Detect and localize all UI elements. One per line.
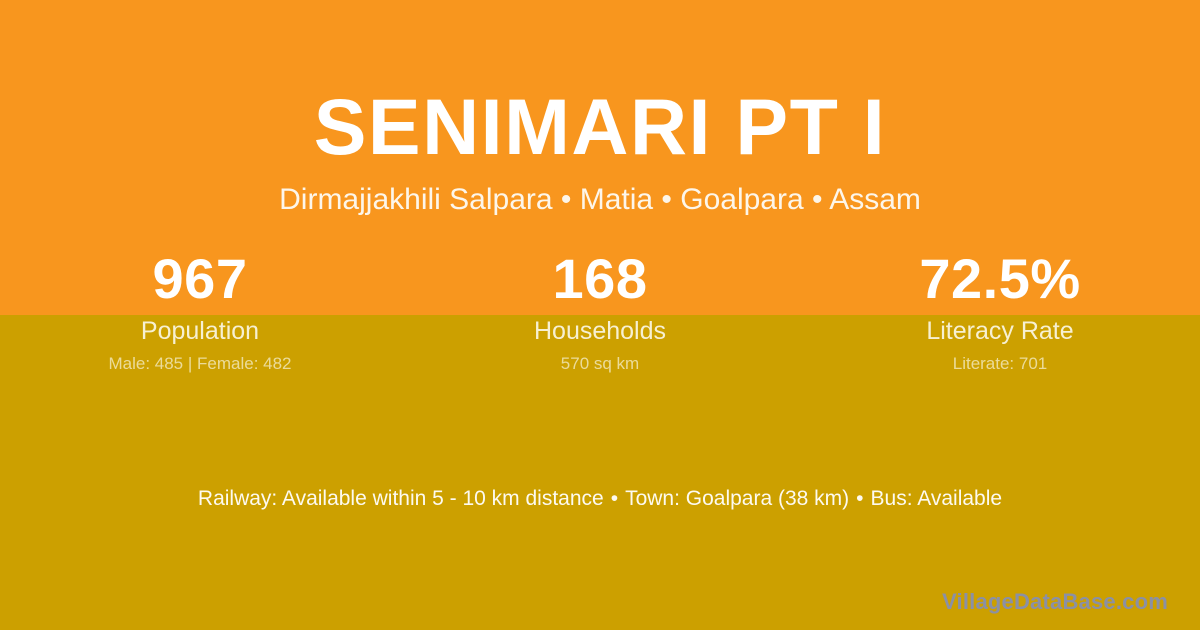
stat-sub-population: Male: 485 | Female: 482 — [0, 353, 400, 375]
stat-label-literacy-rate: Literacy Rate — [800, 315, 1200, 347]
village-info-card: SENIMARI PT I Dirmajjakhili Salpara • Ma… — [0, 0, 1200, 630]
stat-households: 168 Households 570 sq km — [400, 243, 800, 375]
stat-label-population: Population — [0, 315, 400, 347]
page-title: SENIMARI PT I — [0, 82, 1200, 172]
stats-row: 967 Population Male: 485 | Female: 482 1… — [0, 243, 1200, 375]
stat-value-population: 967 — [0, 243, 400, 315]
location-breadcrumb: Dirmajjakhili Salpara • Matia • Goalpara… — [0, 181, 1200, 219]
info-separator-2: • — [849, 484, 870, 514]
stat-sub-households: 570 sq km — [400, 353, 800, 375]
stat-literacy-rate: 72.5% Literacy Rate Literate: 701 — [800, 243, 1200, 375]
stat-value-households: 168 — [400, 243, 800, 315]
connectivity-info-bar: Railway: Available within 5 - 10 km dist… — [0, 484, 1200, 514]
stat-value-literacy-rate: 72.5% — [800, 243, 1200, 315]
town-info: Town: Goalpara (38 km) — [625, 487, 849, 510]
stat-sub-literacy-rate: Literate: 701 — [800, 353, 1200, 375]
stat-label-households: Households — [400, 315, 800, 347]
info-separator-1: • — [604, 484, 625, 514]
site-brand: VillageDataBase.com — [942, 588, 1168, 616]
bus-info: Bus: Available — [871, 487, 1003, 510]
stat-population: 967 Population Male: 485 | Female: 482 — [0, 243, 400, 375]
railway-info: Railway: Available within 5 - 10 km dist… — [198, 487, 604, 510]
